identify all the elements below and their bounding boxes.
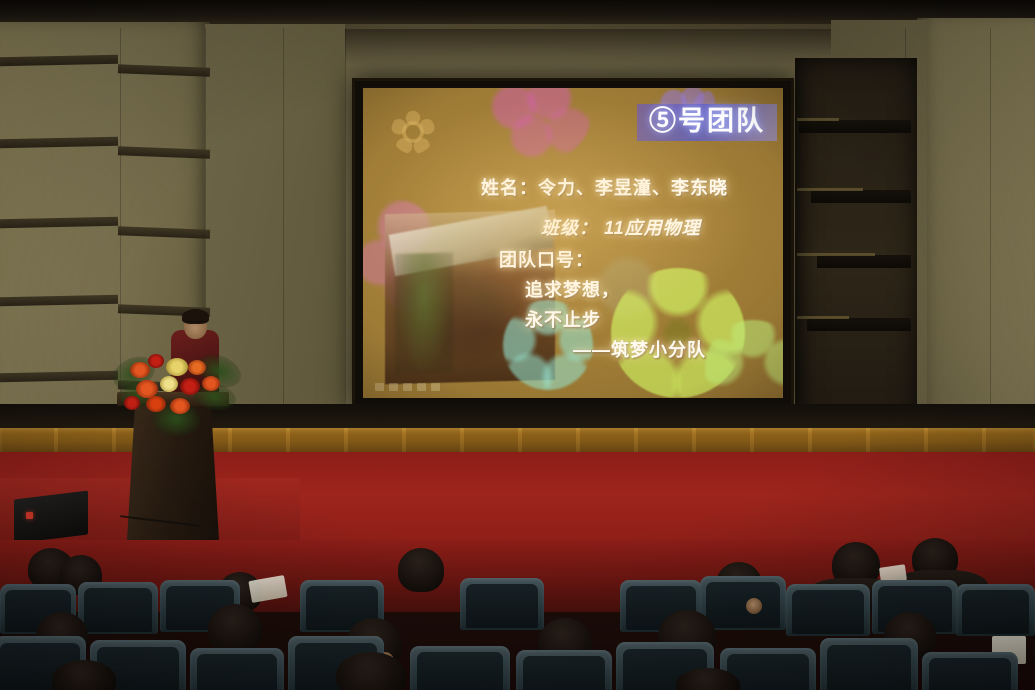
- auditorium-photo: ⑤号团队 姓名：令力、李昱潼、李东晓 班级： 11应用物理 团队口号： 追求梦想…: [0, 0, 1035, 690]
- slide-line-motto-label: 团队口号：: [499, 246, 594, 272]
- projection-screen: ⑤号团队 姓名：令力、李昱潼、李东晓 班级： 11应用物理 团队口号： 追求梦想…: [363, 88, 783, 398]
- audience-chair[interactable]: [700, 576, 786, 630]
- flower-bloom-lily: [160, 376, 178, 392]
- audience-hand: [746, 598, 762, 614]
- alcove-shelf-lip: [797, 188, 863, 191]
- flower-bloom-orange: [146, 396, 166, 412]
- slide-title: ⑤号团队: [637, 104, 777, 141]
- slide-line-motto-2: 永不止步: [525, 306, 601, 332]
- glasses-icon: [186, 321, 205, 326]
- audience-chair[interactable]: [922, 652, 1018, 690]
- flower-bloom-orange: [130, 362, 150, 378]
- slide-flower-gold: [391, 110, 435, 154]
- alcove-shelf-bar: [799, 120, 911, 133]
- pointer-icon[interactable]: [417, 383, 426, 391]
- flower-bloom-orange: [170, 398, 190, 414]
- flower-bloom-red: [124, 396, 140, 410]
- slide-line-motto-1: 追求梦想，: [525, 276, 620, 302]
- alcove-shelf-lip: [797, 253, 875, 256]
- flower-bloom-orange: [202, 376, 220, 391]
- presentation-toolbar[interactable]: [375, 383, 440, 391]
- audience-head: [398, 548, 444, 592]
- flower-bloom-red: [180, 378, 200, 395]
- projection-screen-frame: ⑤号团队 姓名：令力、李昱潼、李东晓 班级： 11应用物理 团队口号： 追求梦想…: [352, 78, 794, 410]
- alcove-shelf-bar: [811, 190, 911, 203]
- flower-bouquet: [112, 344, 238, 430]
- slide-line-names: 姓名：令力、李昱潼、李东晓: [481, 174, 728, 200]
- audience-chair[interactable]: [516, 650, 612, 690]
- alcove-shelf-lip: [797, 118, 839, 121]
- alcove-shelf-bar: [817, 255, 911, 268]
- audience-chair[interactable]: [460, 578, 544, 630]
- audience-chair[interactable]: [78, 582, 158, 634]
- flower-bloom-yellow: [166, 358, 188, 376]
- audience-chair[interactable]: [410, 646, 510, 690]
- slide-flower-pink-top: [481, 88, 591, 162]
- prev-slide-icon[interactable]: [375, 383, 384, 391]
- speaker-led-indicator: [26, 512, 33, 519]
- alcove-shelf-bar: [807, 318, 911, 331]
- audience-chair[interactable]: [190, 648, 284, 690]
- pen-icon[interactable]: [389, 383, 398, 391]
- next-slide-icon[interactable]: [431, 383, 440, 391]
- audience-chair[interactable]: [956, 584, 1035, 636]
- menu-icon[interactable]: [403, 383, 412, 391]
- slide-line-signature: ——筑梦小分队: [573, 336, 706, 362]
- photo-plant: [395, 252, 453, 374]
- alcove-shelf-lip: [797, 316, 849, 319]
- slide-line-class: 班级： 11应用物理: [541, 214, 701, 240]
- flower-bloom-orange: [188, 360, 206, 375]
- audience-head: [208, 604, 262, 654]
- audience-chair[interactable]: [786, 584, 870, 636]
- audience-chair[interactable]: [820, 638, 918, 690]
- flower-bloom-red: [148, 354, 164, 368]
